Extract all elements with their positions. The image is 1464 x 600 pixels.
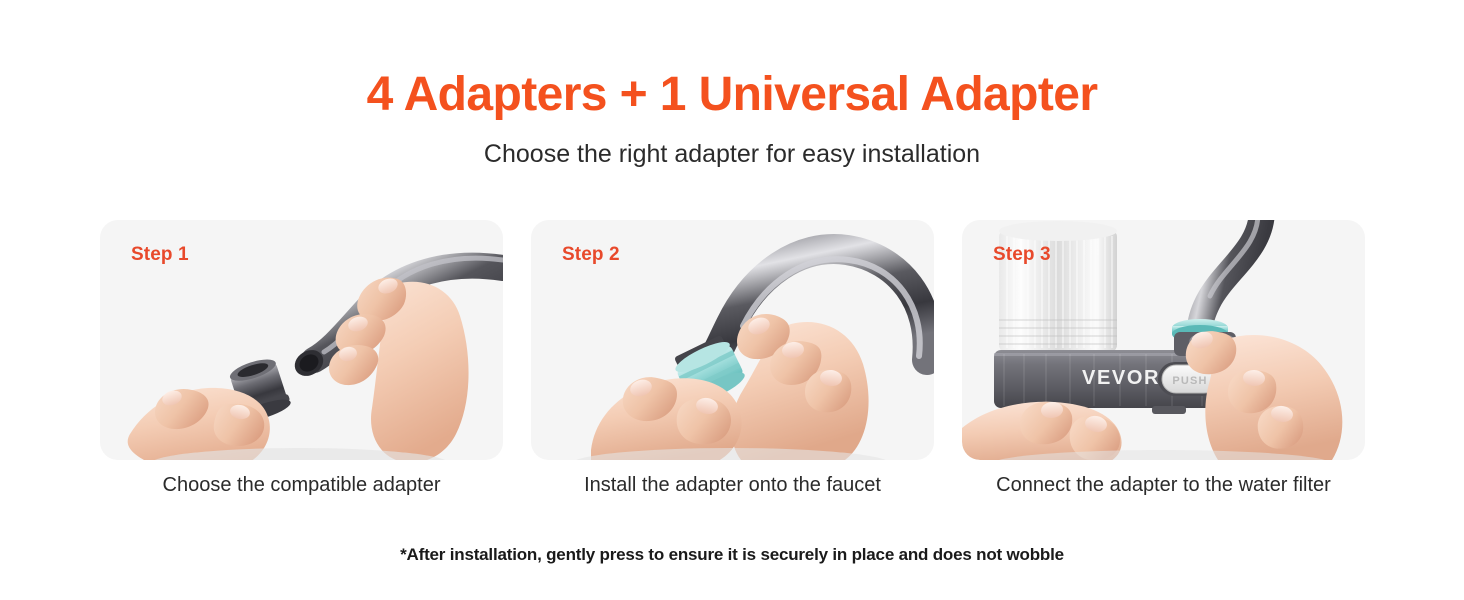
- step-card-2[interactable]: Step 2: [531, 220, 934, 460]
- step-caption-3: Connect the adapter to the water filter: [962, 472, 1365, 498]
- brand-label: VEVOR: [1082, 367, 1160, 389]
- step-captions-row: Choose the compatible adapter Install th…: [100, 472, 1364, 498]
- promo-page: 4 Adapters + 1 Universal Adapter Choose …: [0, 0, 1464, 600]
- step-label-2: Step 2: [562, 244, 620, 266]
- step-label-1: Step 1: [131, 244, 189, 266]
- page-title: 4 Adapters + 1 Universal Adapter: [0, 66, 1464, 124]
- footnote-text: *After installation, gently press to ens…: [0, 545, 1464, 565]
- step-label-3: Step 3: [993, 244, 1051, 266]
- page-subtitle: Choose the right adapter for easy instal…: [0, 138, 1464, 171]
- push-button-label: PUSH: [1172, 375, 1207, 387]
- step-card-1[interactable]: Step 1: [100, 220, 503, 460]
- step-card-3[interactable]: Step 3: [962, 220, 1365, 460]
- step-caption-1: Choose the compatible adapter: [100, 472, 503, 498]
- step-caption-2: Install the adapter onto the faucet: [531, 472, 934, 498]
- step-cards-row: Step 1: [100, 220, 1364, 460]
- page-title-text: 4 Adapters + 1 Universal Adapter: [367, 68, 1098, 121]
